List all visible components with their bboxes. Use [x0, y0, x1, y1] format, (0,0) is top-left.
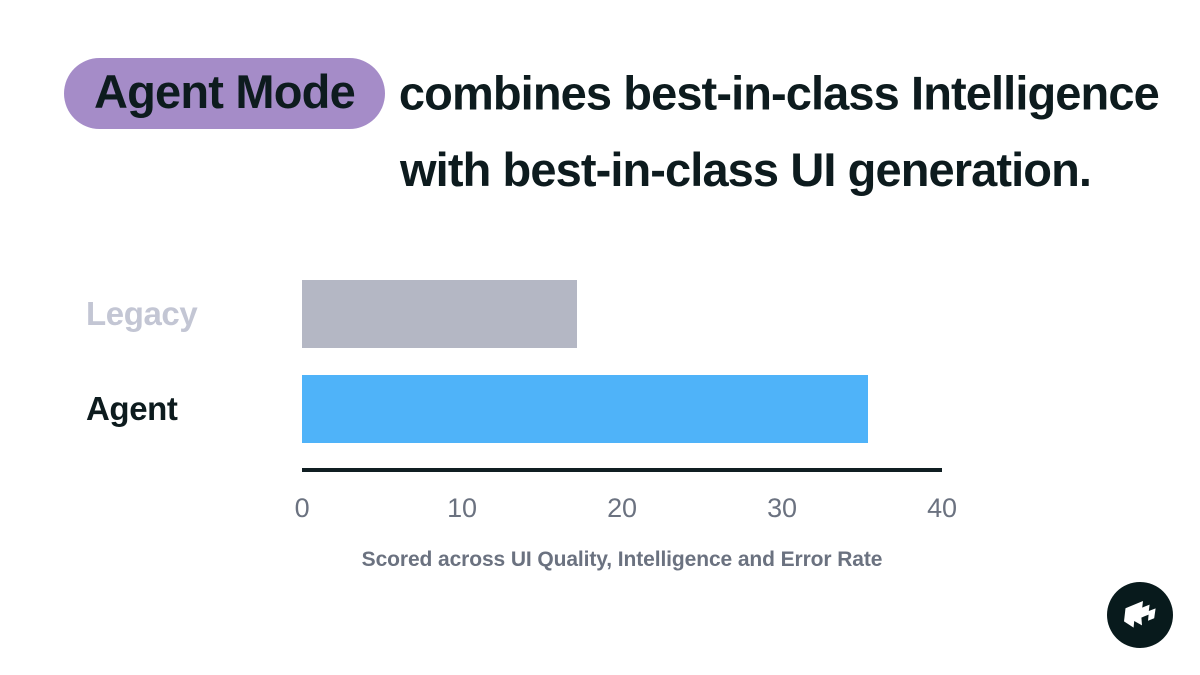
bar-row-legacy: Legacy — [0, 280, 1200, 348]
x-axis-ticks: 010203040 — [302, 493, 942, 529]
bar-label-legacy: Legacy — [0, 280, 215, 348]
agent-mode-pill: Agent Mode — [64, 58, 385, 129]
flag-mark-icon — [1121, 599, 1159, 631]
x-tick-20: 20 — [582, 493, 662, 524]
bar-track-agent — [302, 375, 942, 443]
bar-label-agent: Agent — [0, 375, 215, 443]
x-tick-10: 10 — [422, 493, 502, 524]
brand-logo-badge[interactable] — [1107, 582, 1173, 648]
x-tick-30: 30 — [742, 493, 822, 524]
bar-row-agent: Agent — [0, 375, 1200, 443]
headline-line-1-text: combines best-in-class Intelligence — [399, 67, 1159, 120]
bar-agent — [302, 375, 868, 443]
x-tick-0: 0 — [262, 493, 342, 524]
x-tick-40: 40 — [902, 493, 982, 524]
x-axis-line — [302, 468, 942, 472]
chart-caption: Scored across UI Quality, Intelligence a… — [302, 548, 942, 572]
headline-line-1: Agent Modecombines best-in-class Intelli… — [64, 52, 1154, 132]
headline-line-2: with best-in-class UI generation. — [64, 132, 1154, 208]
bar-legacy — [302, 280, 577, 348]
bar-track-legacy — [302, 280, 942, 348]
headline: Agent Modecombines best-in-class Intelli… — [64, 52, 1154, 208]
